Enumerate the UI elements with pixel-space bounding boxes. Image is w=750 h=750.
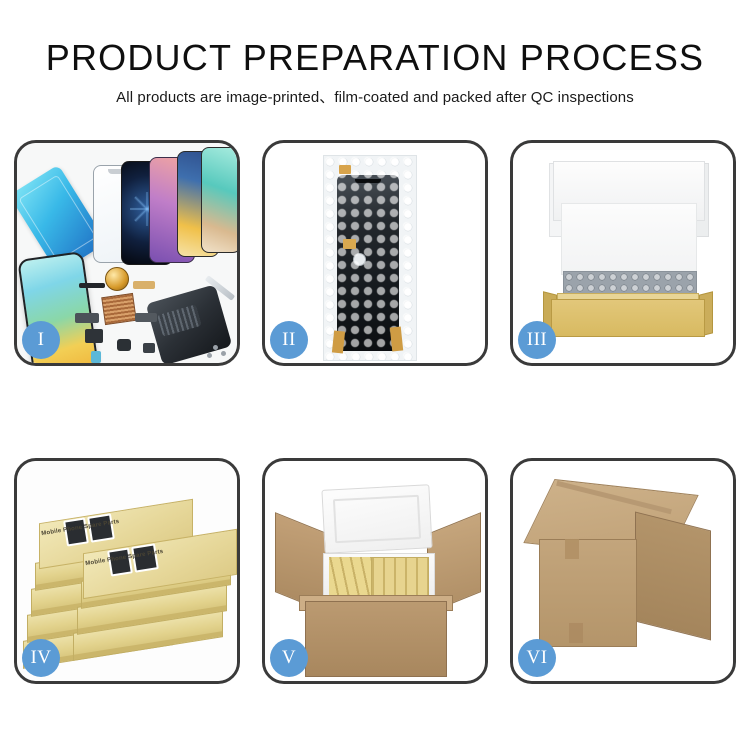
carton-front-icon [305, 601, 447, 677]
process-step-panel-6[interactable]: VI [510, 458, 736, 684]
process-step-panel-5[interactable]: V [262, 458, 488, 684]
camera-module-icon [85, 329, 103, 343]
wrapped-screen-icon [337, 175, 399, 351]
screw-icon [221, 351, 226, 356]
chip-grid-icon [101, 293, 137, 325]
step-badge-5: V [270, 639, 308, 677]
process-step-panel-1[interactable]: I [14, 140, 240, 366]
gold-contact-icon [133, 281, 155, 289]
camera-hole-icon [353, 253, 366, 266]
screw-icon [213, 345, 218, 350]
carton-tape-icon [565, 539, 579, 559]
battery-connector-icon [117, 339, 131, 351]
process-step-panel-3[interactable]: III [510, 140, 736, 366]
step-badge-2: II [270, 321, 308, 359]
tape-piece-icon [390, 326, 403, 351]
process-step-panel-2[interactable]: II [262, 140, 488, 366]
step-badge-3: III [518, 321, 556, 359]
carton-front-icon [539, 539, 637, 647]
carton-side-icon [635, 512, 711, 641]
step-badge-1: I [22, 321, 60, 359]
page-subtitle: All products are image-printed、film-coat… [0, 86, 750, 107]
phone-display-teal-icon [201, 147, 237, 253]
connector-part-icon [75, 313, 99, 323]
page-header: PRODUCT PREPARATION PROCESS All products… [0, 0, 750, 107]
small-board-icon [135, 313, 157, 322]
tape-piece-icon [343, 239, 356, 249]
vibrator-motor-icon [143, 343, 155, 353]
foam-lid-icon [321, 484, 432, 554]
screw-icon [207, 353, 212, 358]
process-step-grid: I II III [14, 140, 736, 684]
step-badge-4: IV [22, 639, 60, 677]
kraft-box-front-icon [551, 299, 705, 337]
tape-piece-icon [332, 330, 345, 353]
tape-piece-icon [339, 165, 351, 174]
step-badge-6: VI [518, 639, 556, 677]
sim-tray-icon [91, 351, 101, 363]
flex-cable-icon [79, 283, 105, 288]
packed-retail-boxes-icon [329, 557, 372, 595]
carton-tape-icon [569, 623, 583, 643]
speaker-coil-icon [105, 267, 129, 291]
page-title: PRODUCT PREPARATION PROCESS [0, 38, 750, 78]
process-step-panel-4[interactable]: Mobile Phone Spare Parts Mobile Phone Sp… [14, 458, 240, 684]
foam-sheet-icon [561, 203, 697, 275]
